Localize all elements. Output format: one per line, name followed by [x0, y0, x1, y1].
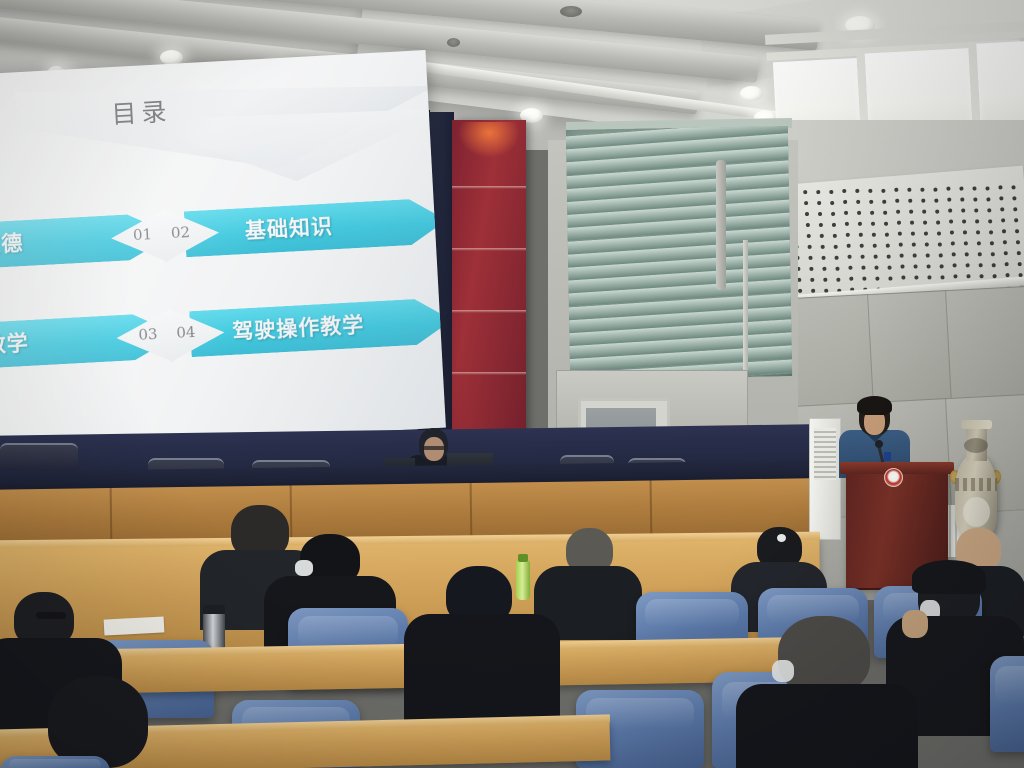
perforation-dot [986, 197, 990, 201]
perforation-dot [847, 244, 851, 248]
perforation-dot [914, 275, 918, 279]
perforation-dot [888, 276, 892, 280]
perforation-dot [913, 265, 917, 269]
perforation-dot [871, 222, 875, 226]
perforation-dot [860, 255, 864, 259]
perforation-dot [985, 186, 989, 190]
perforation-dot [883, 210, 887, 214]
perforation-dot [988, 219, 992, 223]
perforation-dot [992, 263, 996, 267]
perforation-dot [989, 230, 993, 234]
perforation-dot [912, 243, 916, 247]
ceiling-downlight [740, 86, 763, 101]
perforation-dot [951, 242, 955, 246]
perforation-dot [952, 253, 956, 257]
perforation-dot [959, 187, 963, 191]
green-louvered-panel [566, 126, 792, 380]
perforation-dot [937, 231, 941, 235]
perforation-dot [870, 211, 874, 215]
perforation-dot [849, 277, 853, 281]
perforation-dot [910, 221, 914, 225]
perforation-dot [898, 232, 902, 236]
perforation-dot [1012, 196, 1016, 200]
slide-item-04-number: 04 [176, 323, 196, 342]
slide-item-01-arrow: 职业道德 [0, 212, 174, 271]
slide-item-03-number-chip: 03 [115, 308, 174, 365]
slide-item-02-arrow: 基础知识 [184, 197, 446, 257]
window-pane [976, 41, 1024, 131]
perforation-dot [868, 189, 872, 193]
perforation-dot [810, 278, 814, 282]
perforation-dot [819, 223, 823, 227]
perforation-dot [862, 277, 866, 281]
perforation-dot [1000, 208, 1004, 212]
ceiling-vent [560, 6, 582, 17]
perforation-dot [847, 255, 851, 259]
eyeglasses [36, 612, 66, 619]
perforation-dot [834, 244, 838, 248]
slide-item-04-number-chip: 04 [167, 305, 226, 362]
perforation-dot [881, 188, 885, 192]
perforation-dot [1002, 230, 1006, 234]
wall-tile [789, 294, 875, 412]
perforation-dot [886, 243, 890, 247]
slide-item-01-label: 职业道德 [0, 227, 24, 262]
perforation-dot [895, 199, 899, 203]
perforation-dot [976, 230, 980, 234]
perforation-dot [909, 210, 913, 214]
perforation-dot [807, 245, 811, 249]
red-panel-highlight [458, 122, 520, 158]
slide-item-02-number: 02 [170, 223, 190, 242]
perforation-dot [920, 187, 924, 191]
perforation-dot [886, 254, 890, 258]
wall-pipe [716, 160, 726, 290]
perforation-dot [832, 222, 836, 226]
attendee-head-grey [778, 616, 870, 694]
perforation-dot [965, 252, 969, 256]
auditorium-seat[interactable] [0, 756, 110, 768]
perforation-dot [798, 289, 802, 293]
wall-tile [945, 286, 1024, 406]
perforation-dot [913, 254, 917, 258]
perforation-dot [844, 211, 848, 215]
perforation-dot [831, 211, 835, 215]
perforation-dot [900, 254, 904, 258]
head-table-chair [0, 443, 78, 471]
microphone-head [875, 440, 883, 448]
slide-item-03-arrow: 理论教学 [0, 312, 180, 371]
perforation-dot [882, 199, 886, 203]
perforation-dot [960, 198, 964, 202]
perforation-dot [962, 220, 966, 224]
perforation-dot [872, 232, 876, 236]
slide-ribbon-1 [15, 70, 439, 183]
podium-speaker-hair [857, 396, 892, 415]
perforation-dot [901, 276, 905, 280]
slide-item-04-label: 驾驶操作教学 [232, 309, 365, 346]
vase-medallion-upper [964, 438, 988, 453]
slide-item-02-label: 基础知识 [244, 210, 333, 245]
perforation-dot [991, 252, 995, 256]
slide-title: 目录 [110, 92, 172, 131]
red-panel-reveal [452, 310, 526, 313]
perforation-dot [805, 212, 809, 216]
perforation-dot [899, 243, 903, 247]
vase-medallion [963, 497, 990, 527]
attendee-hand [902, 610, 928, 638]
perforation-dot [856, 200, 860, 204]
perforation-dot [848, 266, 852, 270]
vase-pattern-band [955, 478, 997, 491]
thermos-cap [203, 605, 225, 614]
perforation-dot [990, 241, 994, 245]
slide-row-1: 职业道德 01 基础知识 02 [0, 197, 445, 287]
perforation-dot [836, 277, 840, 281]
perforation-dot [947, 198, 951, 202]
face-mask [772, 660, 794, 682]
perforation-dot [938, 242, 942, 246]
perforation-dot [926, 264, 930, 268]
perforation-dot [873, 243, 877, 247]
perforation-dot [1004, 252, 1008, 256]
perforation-dot [857, 211, 861, 215]
perforation-dot [1014, 218, 1018, 222]
perforation-dot [950, 231, 954, 235]
slide-content: 目录 职业道德 01 基础知识 02 理论教学 [0, 50, 446, 452]
perforation-dot [869, 200, 873, 204]
face-mask [295, 560, 313, 576]
perforation-dot [806, 223, 810, 227]
drink-bottle [516, 560, 530, 600]
perforation-dot [855, 189, 859, 193]
perforation-dot [939, 253, 943, 257]
podium-emblem-icon [884, 468, 903, 487]
podium-speaker-badge [884, 452, 891, 461]
perforation-dot [921, 198, 925, 202]
perforation-dot [987, 208, 991, 212]
perforation-dot [972, 186, 976, 190]
perforation-dot [973, 197, 977, 201]
perforation-dot [978, 252, 982, 256]
perforation-dot [875, 276, 879, 280]
perforation-dot [861, 266, 865, 270]
perforation-dot [1017, 251, 1021, 255]
red-panel-reveal [452, 248, 526, 251]
perforation-dot [961, 209, 965, 213]
perforation-dot [1005, 262, 1009, 266]
papers-on-desk [104, 616, 165, 635]
perforation-dot [887, 265, 891, 269]
perforation-dot [953, 275, 957, 279]
perforation-dot [823, 277, 827, 281]
perforation-dot [907, 188, 911, 192]
red-panel-reveal [452, 186, 526, 189]
perforation-dot [821, 245, 825, 249]
conference-hall-photo: 目录 职业道德 01 基础知识 02 理论教学 [0, 0, 1024, 768]
air-conditioner-vent [814, 428, 836, 480]
perforation-dot [816, 190, 820, 194]
perforation-dot [894, 188, 898, 192]
ceiling-vent [447, 38, 460, 47]
perforation-dot [843, 200, 847, 204]
slide-item-03-label: 理论教学 [0, 327, 29, 362]
slide-item-01-number: 01 [133, 225, 153, 244]
perforation-dot [858, 222, 862, 226]
perforation-dot [830, 200, 834, 204]
perforation-dot [808, 256, 812, 260]
perforation-dot [874, 265, 878, 269]
attendee-torso [736, 684, 918, 768]
perforation-dot [924, 231, 928, 235]
perforation-dot [1001, 219, 1005, 223]
perforation-dot [873, 254, 877, 258]
perforation-dot [896, 210, 900, 214]
perforation-dot [833, 233, 837, 237]
perforation-dot [940, 275, 944, 279]
perforation-dot [977, 241, 981, 245]
perforation-dot [807, 234, 811, 238]
perforation-dot [933, 187, 937, 191]
perforation-dot [1016, 240, 1020, 244]
perforation-dot [923, 220, 927, 224]
perforation-dot [846, 233, 850, 237]
perforation-dot [859, 233, 863, 237]
perforation-dot [992, 274, 996, 278]
perforation-dot [804, 201, 808, 205]
perforation-dot [979, 263, 983, 267]
perforation-dot [829, 189, 833, 193]
auditorium-seat[interactable] [990, 656, 1024, 752]
perforation-dot [925, 242, 929, 246]
perforation-dot [845, 222, 849, 226]
perforation-dot [974, 208, 978, 212]
perforation-dot [998, 186, 1002, 190]
perforation-dot [1003, 241, 1007, 245]
perforation-dot [952, 264, 956, 268]
perforation-dot [965, 263, 969, 267]
red-panel-reveal [452, 372, 526, 375]
seated-presenter-glasses [423, 446, 445, 450]
perforation-dot [935, 209, 939, 213]
slide-ribbon-2 [127, 103, 446, 190]
vase-lip [961, 420, 992, 429]
perforation-dot [818, 212, 822, 216]
perforation-dot [1011, 185, 1015, 189]
slide-row-2: 理论教学 03 驾驶操作教学 04 [0, 297, 446, 387]
perforation-dot [908, 199, 912, 203]
bottle-cap [518, 554, 528, 562]
perforation-dot [911, 232, 915, 236]
perforation-dot [884, 221, 888, 225]
perforation-dot [927, 275, 931, 279]
perforation-dot [999, 197, 1003, 201]
perforation-dot [821, 256, 825, 260]
perforation-dot [975, 219, 979, 223]
perforation-dot [948, 209, 952, 213]
perforation-dot [966, 274, 970, 278]
perforation-dot [809, 267, 813, 271]
perforation-dot [979, 274, 983, 278]
slide-item-02-number-chip: 02 [162, 206, 221, 263]
perforation-dot [949, 220, 953, 224]
perforation-dot [835, 266, 839, 270]
perforation-dot [963, 230, 967, 234]
perforation-dot [900, 265, 904, 269]
perforation-dot [964, 241, 968, 245]
perforation-dot [1018, 262, 1022, 266]
hair-clip [777, 534, 786, 542]
perforation-dot [936, 220, 940, 224]
perforation-dot [803, 190, 807, 194]
baseball-cap [912, 560, 986, 594]
perforation-dot [1015, 229, 1019, 233]
attendee-head [48, 676, 148, 768]
perforation-dot [820, 234, 824, 238]
perforation-dot [817, 201, 821, 205]
perforation-dot [934, 198, 938, 202]
perforation-dot [834, 255, 838, 259]
perforation-dot [1013, 207, 1017, 211]
perforation-dot [822, 267, 826, 271]
perforation-dot [922, 209, 926, 213]
wall-tile [867, 290, 955, 408]
projection-screen: 目录 职业道德 01 基础知识 02 理论教学 [0, 50, 446, 452]
perforation-dot [842, 189, 846, 193]
slide-item-03-number: 03 [138, 325, 158, 344]
perforation-dot [926, 253, 930, 257]
perforation-dot [885, 232, 889, 236]
perforation-dot [860, 244, 864, 248]
slide-item-04-arrow: 驾驶操作教学 [189, 297, 446, 357]
perforation-dot [939, 264, 943, 268]
slide-item-01-number-chip: 01 [110, 208, 169, 265]
perforation-dot [897, 221, 901, 225]
perforation-dot [946, 187, 950, 191]
